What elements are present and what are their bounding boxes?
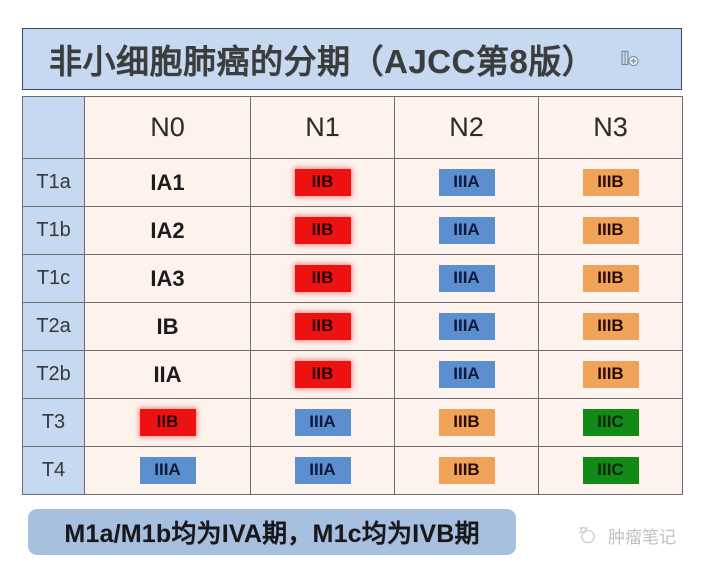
cell-t3-n1: IIIA	[251, 399, 395, 447]
row-header-t1b: T1b	[23, 207, 85, 255]
title-banner: 非小细胞肺癌的分期（AJCC第8版）	[22, 28, 682, 90]
cell-t4-n1: IIIA	[251, 447, 395, 495]
stage-badge: IIIA	[439, 169, 495, 196]
cell-t2a-n2: IIIA	[395, 303, 539, 351]
table-row: T1b IA2 IIB IIIA IIIB	[23, 207, 683, 255]
cell-t1b-n3: IIIB	[539, 207, 683, 255]
cell-t4-n2: IIIB	[395, 447, 539, 495]
table-row: T1a IA1 IIB IIIA IIIB	[23, 159, 683, 207]
stage-badge: IIB	[295, 313, 351, 340]
cell-t1a-n2: IIIA	[395, 159, 539, 207]
cell-t1a-n0: IA1	[85, 159, 251, 207]
stage-badge: IIIA	[295, 409, 351, 436]
stage-badge: IIIB	[583, 169, 639, 196]
cell-t3-n3: IIIC	[539, 399, 683, 447]
stage-badge: IIIA	[439, 361, 495, 388]
watermark: 肿瘤笔记	[575, 522, 676, 548]
cell-t1b-n0: IA2	[85, 207, 251, 255]
row-header-t1c: T1c	[23, 255, 85, 303]
cell-t4-n0: IIIA	[85, 447, 251, 495]
stage-badge: IIIB	[583, 217, 639, 244]
cell-t2a-n3: IIIB	[539, 303, 683, 351]
table-row: T3 IIB IIIA IIIB IIIC	[23, 399, 683, 447]
watermark-text: 肿瘤笔记	[608, 523, 676, 548]
row-header-t1a: T1a	[23, 159, 85, 207]
cell-t2b-n3: IIIB	[539, 351, 683, 399]
row-header-t3: T3	[23, 399, 85, 447]
table-row: T2a IB IIB IIIA IIIB	[23, 303, 683, 351]
cell-t4-n3: IIIC	[539, 447, 683, 495]
stage-badge: IIIC	[583, 409, 639, 436]
stage-badge: IIIB	[583, 265, 639, 292]
row-header-t2a: T2a	[23, 303, 85, 351]
metastasis-note-banner: M1a/M1b均为IVA期，M1c均为IVB期	[28, 509, 516, 555]
nsclc-staging-table: N0 N1 N2 N3 T1a IA1 IIB IIIA IIIB T1b IA…	[22, 96, 683, 495]
cell-t1b-n1: IIB	[251, 207, 395, 255]
stage-badge: IIIA	[439, 313, 495, 340]
stage-badge: IIIA	[140, 457, 196, 484]
stage-badge: IIIA	[439, 265, 495, 292]
insert-column-plus-icon[interactable]	[621, 50, 639, 68]
stage-badge: IIIB	[583, 313, 639, 340]
stage-badge: IIB	[295, 217, 351, 244]
stage-badge: IIB	[140, 409, 196, 436]
table-row: T1c IA3 IIB IIIA IIIB	[23, 255, 683, 303]
stage-badge: IIIC	[583, 457, 639, 484]
cell-t1c-n3: IIIB	[539, 255, 683, 303]
cell-t1b-n2: IIIA	[395, 207, 539, 255]
column-header-n3: N3	[539, 97, 683, 159]
cell-t1a-n1: IIB	[251, 159, 395, 207]
column-header-n0: N0	[85, 97, 251, 159]
stage-badge: IIIA	[295, 457, 351, 484]
cell-t2b-n2: IIIA	[395, 351, 539, 399]
stage-badge: IIB	[295, 265, 351, 292]
stage-badge: IIB	[295, 169, 351, 196]
table-header-row: N0 N1 N2 N3	[23, 97, 683, 159]
stage-badge: IIIA	[439, 217, 495, 244]
sparkle-logo-icon	[575, 522, 601, 548]
stage-text: IA1	[150, 170, 184, 196]
table-row: T4 IIIA IIIA IIIB IIIC	[23, 447, 683, 495]
stage-table-page: 非小细胞肺癌的分期（AJCC第8版） N0 N1 N2 N3	[0, 0, 704, 574]
page-title: 非小细胞肺癌的分期（AJCC第8版）	[49, 35, 595, 83]
cell-t2a-n1: IIB	[251, 303, 395, 351]
cell-t1a-n3: IIIB	[539, 159, 683, 207]
stage-text: IIA	[153, 362, 181, 388]
cell-t2b-n1: IIB	[251, 351, 395, 399]
stage-text: IA3	[150, 266, 184, 292]
row-header-t2b: T2b	[23, 351, 85, 399]
row-header-t4: T4	[23, 447, 85, 495]
table-row: T2b IIA IIB IIIA IIIB	[23, 351, 683, 399]
stage-badge: IIIB	[583, 361, 639, 388]
table-corner-cell	[23, 97, 85, 159]
stage-badge: IIIB	[439, 457, 495, 484]
stage-badge: IIIB	[439, 409, 495, 436]
metastasis-note-text: M1a/M1b均为IVA期，M1c均为IVB期	[64, 514, 479, 550]
cell-t1c-n2: IIIA	[395, 255, 539, 303]
column-header-n1: N1	[251, 97, 395, 159]
cell-t2b-n0: IIA	[85, 351, 251, 399]
stage-badge: IIB	[295, 361, 351, 388]
column-header-n2: N2	[395, 97, 539, 159]
stage-text: IB	[157, 314, 179, 340]
cell-t2a-n0: IB	[85, 303, 251, 351]
cell-t1c-n0: IA3	[85, 255, 251, 303]
cell-t3-n2: IIIB	[395, 399, 539, 447]
cell-t3-n0: IIB	[85, 399, 251, 447]
cell-t1c-n1: IIB	[251, 255, 395, 303]
stage-text: IA2	[150, 218, 184, 244]
